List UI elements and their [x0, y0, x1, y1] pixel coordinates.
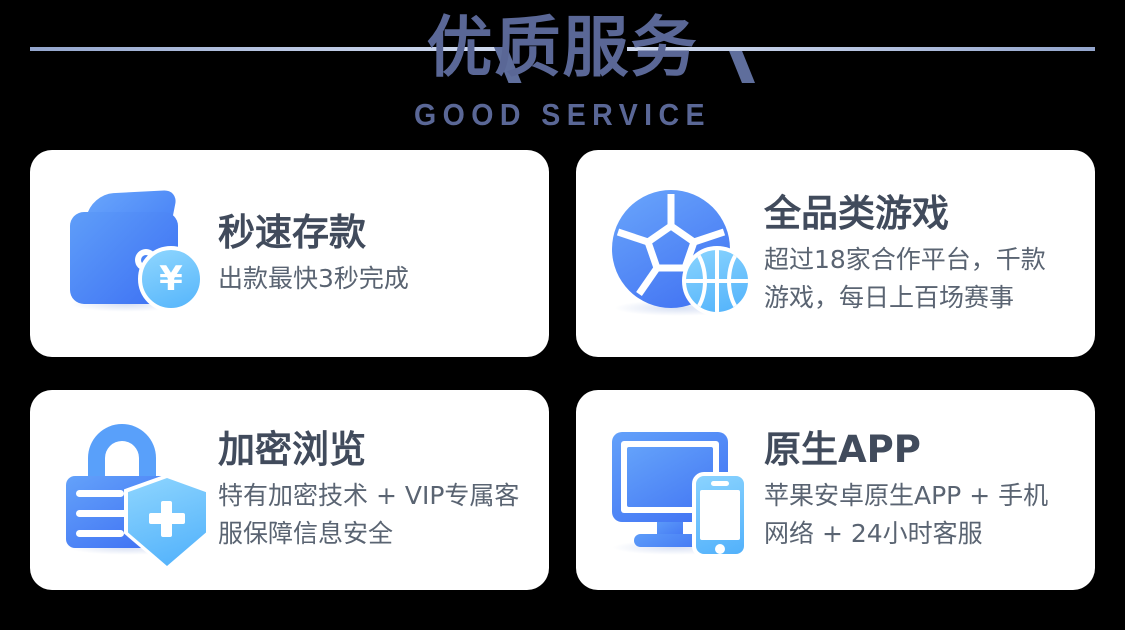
page-title: 优质服务 [0, 6, 1125, 90]
card-description-line2: 网络 + 24小时客服 [764, 515, 1081, 553]
wallet-yen-icon: ¥ [62, 184, 212, 324]
card-description: 出款最快3秒完成 [218, 260, 535, 298]
card-description-line1: 超过18家合作平台，千款 [764, 241, 1081, 279]
feature-card-games[interactable]: 全品类游戏 超过18家合作平台，千款 游戏，每日上百场赛事 [576, 150, 1095, 357]
phone-speaker-shape [711, 481, 729, 486]
yen-coin-icon: ¥ [138, 246, 204, 312]
feature-card-native-app[interactable]: 原生APP 苹果安卓原生APP + 手机 网络 + 24小时客服 [576, 390, 1095, 590]
basketball-icon [682, 246, 752, 316]
card-title: 加密浏览 [218, 427, 535, 472]
feature-card-deposit[interactable]: ¥ 秒速存款 出款最快3秒完成 [30, 150, 549, 357]
lock-slot-shape [76, 530, 124, 537]
card-description-line1: 特有加密技术 + VIP专属客 [218, 477, 535, 515]
page-root: 优质服务 GOOD SERVICE ¥ 秒速存款 出款最快3秒完成 [0, 0, 1125, 630]
lock-slot-shape [76, 490, 124, 497]
phone-screen-shape [700, 490, 740, 540]
page-subtitle: GOOD SERVICE [45, 95, 1080, 135]
plus-icon-vertical [161, 501, 172, 537]
card-text-block: 原生APP 苹果安卓原生APP + 手机 网络 + 24小时客服 [764, 427, 1095, 553]
card-text-block: 秒速存款 出款最快3秒完成 [218, 210, 549, 298]
soccer-basketball-icon [608, 184, 758, 324]
card-text-block: 加密浏览 特有加密技术 + VIP专属客 服保障信息安全 [218, 427, 549, 553]
card-description-line1: 苹果安卓原生APP + 手机 [764, 477, 1081, 515]
feature-card-grid: ¥ 秒速存款 出款最快3秒完成 [30, 150, 1095, 590]
phone-home-button-shape [715, 544, 725, 554]
card-description-line2: 游戏，每日上百场赛事 [764, 279, 1081, 317]
card-title: 秒速存款 [218, 210, 535, 255]
card-title: 原生APP [764, 427, 1081, 472]
feature-card-encryption[interactable]: 加密浏览 特有加密技术 + VIP专属客 服保障信息安全 [30, 390, 549, 590]
monitor-phone-icon [608, 420, 758, 560]
lock-shield-icon [62, 420, 212, 560]
card-description-line2: 服保障信息安全 [218, 515, 535, 553]
card-title: 全品类游戏 [764, 191, 1081, 236]
page-header: 优质服务 GOOD SERVICE [0, 0, 1125, 140]
card-text-block: 全品类游戏 超过18家合作平台，千款 游戏，每日上百场赛事 [764, 191, 1095, 317]
